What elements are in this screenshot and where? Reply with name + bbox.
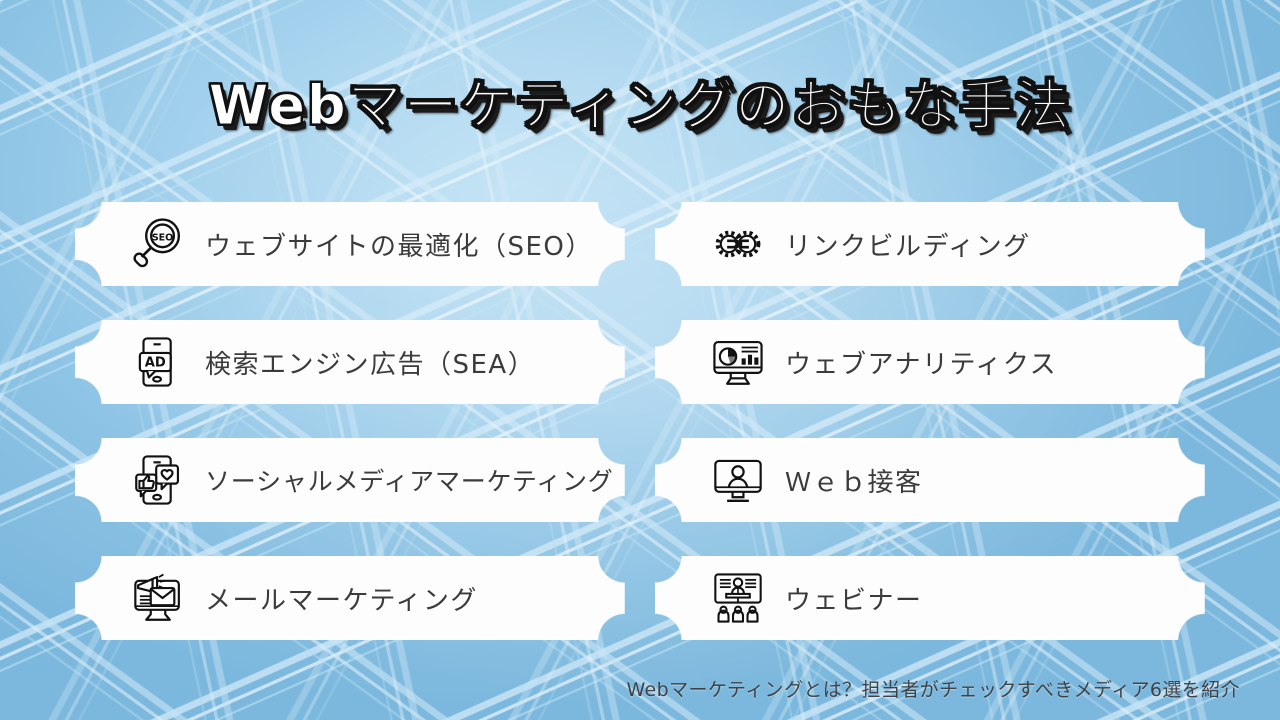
method-card-label: ソーシャルメディアマーケティング (205, 462, 614, 498)
method-card-label: ウェブサイトの最適化（SEO） (205, 226, 593, 263)
method-card-seo[interactable]: SEO ウェブサイトの最適化（SEO） (75, 202, 625, 286)
svg-text:AD: AD (145, 356, 166, 371)
source-caption: Webマーケティングとは？担当者がチェックすべきメディア6選を紹介 (626, 675, 1240, 702)
method-card-social[interactable]: ソーシャルメディアマーケティング (75, 438, 625, 522)
monitor-charts-icon (707, 331, 769, 393)
method-card-label: 検索エンジン広告（SEA） (205, 344, 535, 381)
method-card-mail[interactable]: メールマーケティング (75, 556, 625, 640)
monitor-person-icon (707, 449, 769, 511)
method-card-analytics[interactable]: ウェブアナリティクス (655, 320, 1205, 404)
method-card-label: ウェビナー (785, 580, 923, 617)
gears-link-icon (707, 213, 769, 275)
webinar-presentation-icon (707, 567, 769, 629)
method-card-label: リンクビルディング (785, 226, 1031, 263)
monitor-megaphone-mail-icon (127, 567, 189, 629)
magnifier-seo-icon: SEO (127, 213, 189, 275)
method-card-label: ウェブアナリティクス (785, 344, 1057, 381)
method-card-label: Ｗｅｂ接客 (785, 462, 923, 499)
phone-ad-bubble-icon: AD (127, 331, 189, 393)
method-card-webinar[interactable]: ウェビナー (655, 556, 1205, 640)
slide-canvas: Webマーケティングのおもな手法 SEO ウェブサイトの最適化（SEO） (0, 0, 1280, 720)
method-card-label: メールマーケティング (205, 580, 478, 617)
method-card-grid: SEO ウェブサイトの最適化（SEO） リンクビルディン (0, 0, 1280, 720)
phone-like-heart-icon (127, 449, 189, 511)
method-card-link[interactable]: リンクビルディング (655, 202, 1205, 286)
svg-text:SEO: SEO (152, 232, 173, 243)
method-card-sea[interactable]: AD 検索エンジン広告（SEA） (75, 320, 625, 404)
method-card-webcs[interactable]: Ｗｅｂ接客 (655, 438, 1205, 522)
